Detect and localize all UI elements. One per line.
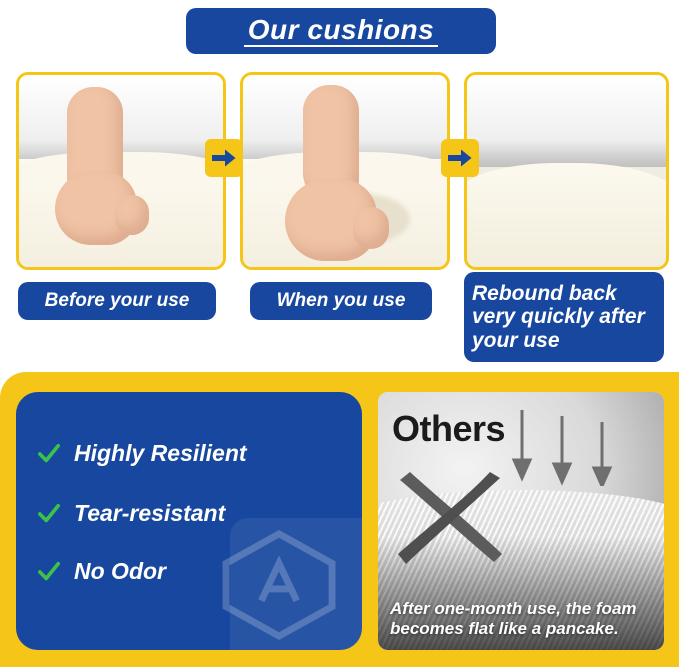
check-icon: [38, 503, 60, 525]
photo-when-you-use: [240, 72, 450, 270]
photo-before-use: [16, 72, 226, 270]
arrow-right-icon: [441, 139, 479, 177]
check-icon: [38, 443, 60, 465]
page-title-banner: Our cushions: [186, 8, 496, 54]
others-title: Others: [392, 408, 505, 450]
others-caption: After one-month use, the foam becomes fl…: [390, 599, 654, 640]
x-cross-brush-icon: [390, 470, 514, 574]
foam-block: [464, 163, 669, 270]
caption-when-you-use: When you use: [250, 282, 432, 320]
thumb-shape: [115, 195, 149, 235]
arrow-down-icon-group: [510, 406, 628, 486]
feature-label: No Odor: [74, 558, 166, 585]
caption-text: Rebound back very quickly after your use: [472, 282, 656, 353]
feature-item-1: Tear-resistant: [38, 500, 225, 527]
others-comparison-panel: Others After one-month use, the foam bec…: [378, 392, 664, 650]
feature-item-0: Highly Resilient: [38, 440, 247, 467]
page-title: Our cushions: [244, 15, 438, 47]
house-badge-watermark-icon: [220, 530, 338, 640]
caption-before-use: Before your use: [18, 282, 216, 320]
arrow-right-icon: [205, 139, 243, 177]
feature-label: Tear-resistant: [74, 500, 225, 527]
check-icon: [38, 561, 60, 583]
caption-text: Before your use: [45, 290, 190, 311]
caption-text: When you use: [277, 290, 406, 311]
feature-label: Highly Resilient: [74, 440, 247, 467]
thumb-shape: [353, 207, 389, 249]
feature-item-2: No Odor: [38, 558, 166, 585]
photo-after-use: [464, 72, 669, 270]
caption-after-use: Rebound back very quickly after your use: [464, 272, 664, 362]
